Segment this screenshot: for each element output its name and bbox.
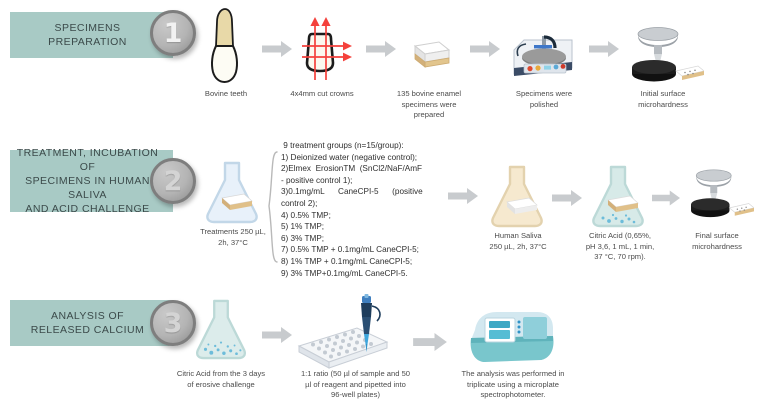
flask-saliva-icon [487, 164, 547, 233]
treatment-group-item: - positive control 1); [281, 175, 423, 187]
flask-citric-acid-icon [588, 164, 648, 233]
treatment-group-item: 1) Deionized water (negative control); [281, 152, 423, 164]
microhardness-tester-icon [684, 163, 754, 228]
microplate-pipette-icon [295, 294, 400, 377]
enamel-block-icon [403, 40, 451, 79]
treatment-groups-list: 9 treatment groups (n=15/group): 1) Deio… [281, 140, 423, 279]
spectrophotometer-icon [463, 306, 559, 373]
banner-label: TREATMENT, INCUBATION OF SPECIMENS IN HU… [10, 146, 173, 216]
cut-crown-grid-icon [288, 14, 356, 89]
step-caption: 135 bovine enamel specimens were prepare… [380, 89, 478, 121]
flask-treatment-icon [202, 160, 262, 229]
polishing-machine-icon [506, 28, 578, 89]
step-caption: Specimens were polished [500, 89, 588, 110]
treatment-group-item: 8) 1% TMP + 0.1mg/mL CaneCPI-5; [281, 256, 423, 268]
step-badge-number: 1 [164, 20, 183, 47]
flow-arrow-icon [366, 41, 396, 62]
flow-arrow-icon [262, 327, 292, 348]
step-caption: Human Saliva 250 µL, 2h, 37°C [472, 231, 564, 252]
treatment-groups-heading: 9 treatment groups (n=15/group): [281, 140, 423, 152]
step-badge-3: 3 [150, 300, 196, 346]
flow-arrow-icon [413, 333, 447, 356]
step-caption: Final surface microhardness [675, 231, 758, 252]
step-caption: The analysis was performed in triplicate… [443, 369, 583, 401]
flow-arrow-icon [652, 190, 680, 211]
treatment-group-item: 6) 3% TMP; [281, 233, 423, 245]
step-caption: Citric Acid from the 3 days of erosive c… [166, 369, 276, 390]
workflow-diagram: SPECIMENS PREPARATION 1 Bovine teeth [0, 0, 758, 413]
flow-arrow-icon [448, 188, 478, 209]
flow-arrow-icon [470, 41, 500, 62]
step-caption: 1:1 ratio (50 µl of sample and 50 µl of … [288, 369, 423, 401]
step-badge-number: 3 [164, 310, 183, 337]
step-caption: 4x4mm cut crowns [276, 89, 368, 100]
banner-label: ANALYSIS OF RELEASED CALCIUM [25, 309, 158, 337]
banner-label: SPECIMENS PREPARATION [42, 21, 141, 49]
brace-icon [266, 150, 280, 270]
step-caption: Initial surface microhardness [617, 89, 709, 110]
treatment-group-item: 5) 1% TMP; [281, 221, 423, 233]
flow-arrow-icon [589, 41, 619, 62]
bovine-tooth-icon [203, 6, 247, 91]
flow-arrow-icon [552, 190, 582, 211]
banner-analysis-released-calcium: ANALYSIS OF RELEASED CALCIUM [10, 300, 173, 346]
treatment-group-item: 4) 0.5% TMP; [281, 210, 423, 222]
treatment-group-item: 9) 3% TMP+0.1mg/mL CaneCPI-5. [281, 268, 423, 280]
step-caption: Citric Acid (0,65%, pH 3,6, 1 mL, 1 min,… [572, 231, 668, 263]
step-badge-1: 1 [150, 10, 196, 56]
step-caption: Bovine teeth [181, 89, 271, 100]
banner-treatment-incubation: TREATMENT, INCUBATION OF SPECIMENS IN HU… [10, 150, 173, 212]
treatment-group-item: 2)Elmex ErosionTM (SnCl2/NaF/AmF [281, 163, 423, 175]
step-badge-number: 2 [164, 168, 183, 195]
treatment-group-item: 3)0.1mg/mL CaneCPI-5 (positive [281, 186, 423, 198]
step-badge-2: 2 [150, 158, 196, 204]
flask-citric-acid-icon [191, 298, 251, 365]
treatment-group-item: 7) 0.5% TMP + 0.1mg/mL CaneCPI-5; [281, 244, 423, 256]
banner-specimens-preparation: SPECIMENS PREPARATION [10, 12, 173, 58]
microhardness-tester-icon [624, 24, 704, 89]
treatment-group-item: control 2); [281, 198, 423, 210]
